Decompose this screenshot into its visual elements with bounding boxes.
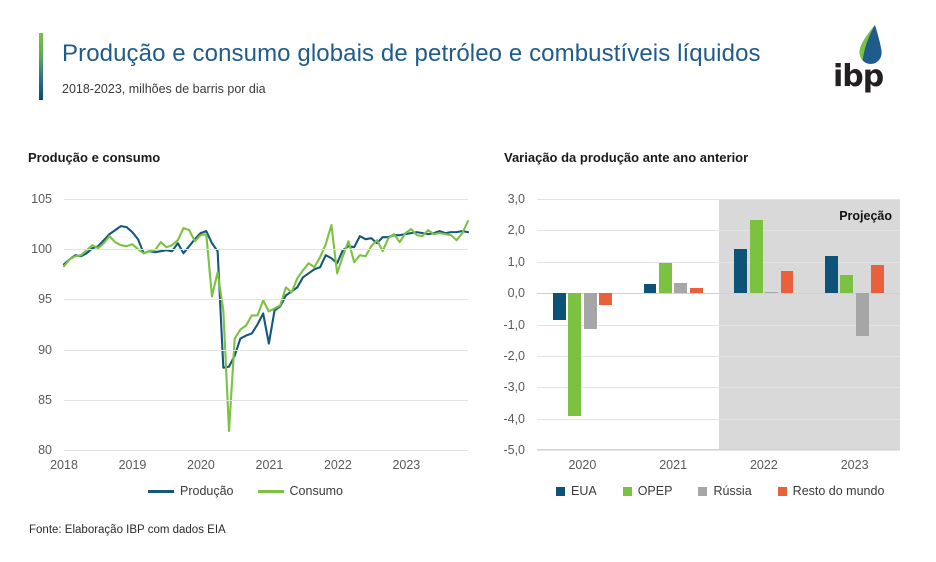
bar-chart-plot-area: 3,02,01,00,0-1,0-2,0-3,0-4,0-5,020202021… bbox=[537, 199, 900, 450]
x-axis-tick-label: 2023 bbox=[809, 458, 900, 472]
bar-2023-rússia bbox=[856, 293, 869, 336]
y-axis-tick-label: 80 bbox=[12, 444, 52, 457]
legend-item-opep[interactable]: OPEP bbox=[623, 484, 673, 498]
y-axis-tick-label: 2,0 bbox=[483, 224, 525, 237]
bar-2021-rússia bbox=[674, 283, 687, 293]
legend-label: Consumo bbox=[290, 484, 344, 498]
bar-2022-opep bbox=[750, 220, 763, 293]
bar-2021-opep bbox=[659, 263, 672, 293]
bar-2022-rússia bbox=[765, 292, 778, 294]
y-axis-tick-label: -5,0 bbox=[483, 444, 525, 457]
x-axis-tick-label: 2018 bbox=[42, 458, 86, 472]
gridline bbox=[64, 299, 468, 300]
legend-swatch-icon bbox=[556, 487, 565, 496]
legend-item-produção[interactable]: Produção bbox=[148, 484, 234, 498]
legend-label: Produção bbox=[180, 484, 234, 498]
x-axis-tick-label: 2020 bbox=[179, 458, 223, 472]
line-series-produção bbox=[64, 226, 468, 368]
y-axis-tick-label: 95 bbox=[12, 293, 52, 306]
legend-item-rússia[interactable]: Rússia bbox=[698, 484, 751, 498]
projection-label: Projeção bbox=[839, 209, 892, 223]
gridline bbox=[64, 249, 468, 250]
bar-2022-eua bbox=[734, 249, 747, 293]
y-axis-tick-label: -4,0 bbox=[483, 413, 525, 426]
gridline bbox=[537, 356, 900, 357]
y-axis-tick-label: -1,0 bbox=[483, 319, 525, 332]
legend-swatch-icon bbox=[148, 490, 174, 493]
y-axis-tick-label: 100 bbox=[12, 243, 52, 256]
gridline bbox=[537, 262, 900, 263]
bar-2023-opep bbox=[840, 275, 853, 293]
title-accent-bar bbox=[39, 33, 43, 100]
gridline bbox=[64, 199, 468, 200]
bar-2023-eua bbox=[825, 256, 838, 293]
y-axis-tick-label: 3,0 bbox=[483, 193, 525, 206]
x-axis-tick-label: 2023 bbox=[384, 458, 428, 472]
gridline bbox=[64, 400, 468, 401]
gridline bbox=[537, 387, 900, 388]
x-axis-tick-label: 2022 bbox=[316, 458, 360, 472]
x-axis-tick-label: 2021 bbox=[247, 458, 291, 472]
bar-2020-opep bbox=[568, 293, 581, 416]
page-title: Produção e consumo globais de petróleo e… bbox=[62, 40, 761, 68]
legend-swatch-icon bbox=[778, 487, 787, 496]
left-chart-title: Produção e consumo bbox=[28, 150, 160, 165]
bar-2020-resto-do-mundo bbox=[599, 293, 612, 305]
bar-2021-eua bbox=[644, 284, 657, 293]
gridline bbox=[537, 419, 900, 420]
page-subtitle: 2018-2023, milhões de barris por dia bbox=[62, 82, 266, 96]
x-axis-tick-label: 2020 bbox=[537, 458, 628, 472]
legend-swatch-icon bbox=[623, 487, 632, 496]
y-axis-tick-label: 105 bbox=[12, 193, 52, 206]
legend-label: OPEP bbox=[638, 484, 673, 498]
gridline bbox=[64, 350, 468, 351]
source-note: Fonte: Elaboração IBP com dados EIA bbox=[29, 524, 226, 536]
ibp-logo: ibp bbox=[833, 24, 903, 90]
y-axis-tick-label: 85 bbox=[12, 394, 52, 407]
x-axis-tick-label: 2022 bbox=[719, 458, 810, 472]
legend-label: Resto do mundo bbox=[793, 484, 885, 498]
y-axis-tick-label: -3,0 bbox=[483, 381, 525, 394]
gridline bbox=[64, 450, 468, 451]
bar-2022-resto-do-mundo bbox=[781, 271, 794, 294]
legend-label: EUA bbox=[571, 484, 597, 498]
line-chart-legend: ProduçãoConsumo bbox=[148, 484, 343, 498]
right-chart-title: Variação da produção ante ano anterior bbox=[504, 150, 748, 165]
line-chart-svg bbox=[64, 199, 468, 450]
legend-label: Rússia bbox=[713, 484, 751, 498]
legend-item-consumo[interactable]: Consumo bbox=[258, 484, 344, 498]
line-chart-plot-area: 80859095100105201820192020202120222023 bbox=[64, 199, 468, 450]
x-axis-tick-label: 2021 bbox=[628, 458, 719, 472]
x-axis-line bbox=[537, 449, 900, 450]
legend-item-resto-do-mundo[interactable]: Resto do mundo bbox=[778, 484, 885, 498]
bar-chart-legend: EUAOPEPRússiaResto do mundo bbox=[556, 484, 884, 498]
y-axis-tick-label: 0,0 bbox=[483, 287, 525, 300]
ibp-wordmark: ibp bbox=[833, 62, 903, 92]
chart-page: Produção e consumo globais de petróleo e… bbox=[0, 0, 936, 562]
gridline bbox=[537, 199, 900, 200]
y-axis-tick-label: 90 bbox=[12, 344, 52, 357]
gridline bbox=[537, 450, 900, 451]
legend-item-eua[interactable]: EUA bbox=[556, 484, 597, 498]
y-axis-tick-label: -2,0 bbox=[483, 350, 525, 363]
bar-2020-rússia bbox=[584, 293, 597, 329]
bar-2020-eua bbox=[553, 293, 566, 320]
legend-swatch-icon bbox=[258, 490, 284, 493]
gridline bbox=[537, 230, 900, 231]
bar-2021-resto-do-mundo bbox=[690, 288, 703, 293]
legend-swatch-icon bbox=[698, 487, 707, 496]
y-axis-tick-label: 1,0 bbox=[483, 256, 525, 269]
bar-2023-resto-do-mundo bbox=[871, 265, 884, 293]
x-axis-tick-label: 2019 bbox=[110, 458, 154, 472]
